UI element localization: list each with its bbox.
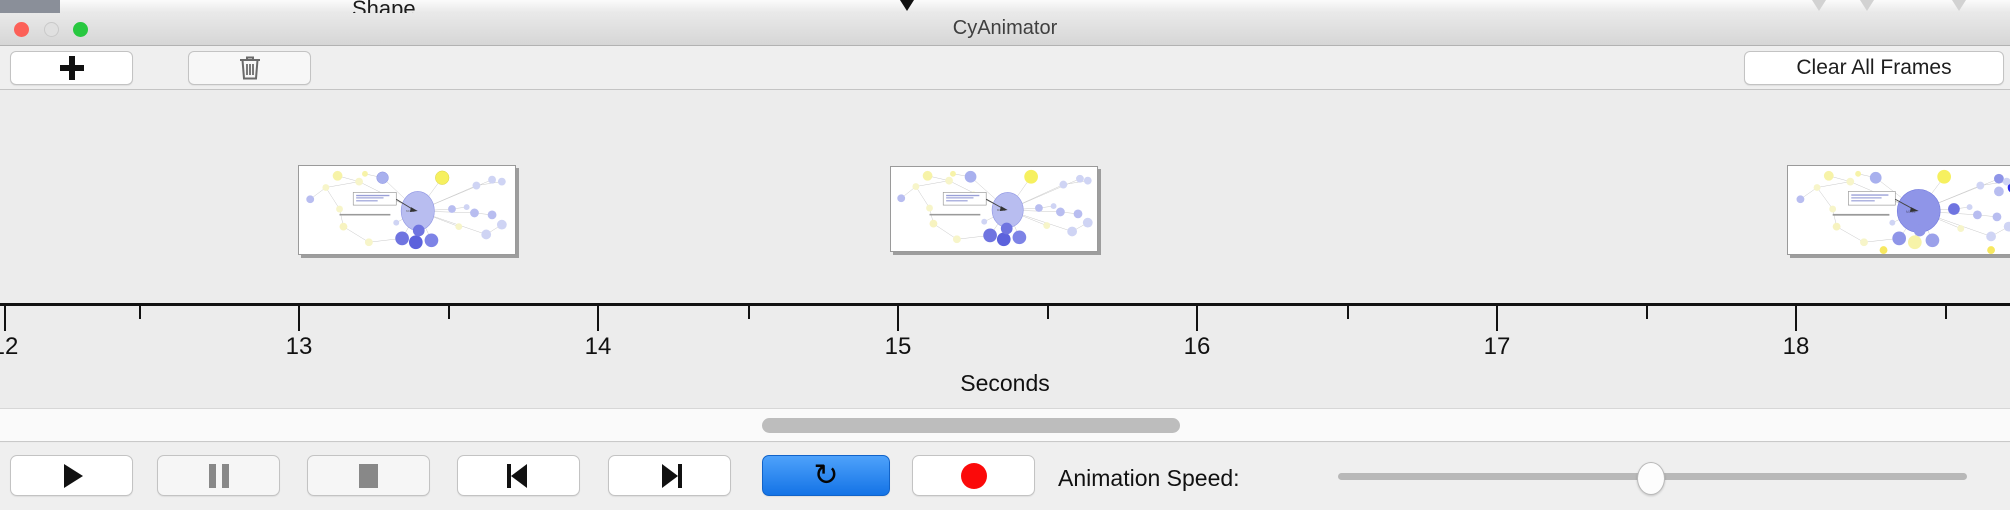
record-button[interactable] xyxy=(912,455,1035,496)
axis-tick-major xyxy=(897,306,899,331)
trash-icon xyxy=(237,54,263,82)
frames-strip: MCM1 xyxy=(0,90,2010,305)
background-window-strip: Shape xyxy=(0,0,2010,13)
axis-line xyxy=(0,303,2010,306)
skip-to-start-button[interactable] xyxy=(457,455,580,496)
play-icon xyxy=(64,464,83,488)
pause-icon xyxy=(209,464,229,488)
plus-icon xyxy=(58,54,86,82)
background-window-label: Shape xyxy=(352,0,416,13)
network-thumbnail-graphic: MCM1 xyxy=(891,167,1097,251)
playback-controls-bar: ↻ Animation Speed: xyxy=(0,443,2010,510)
network-thumbnail-graphic: MCM1 xyxy=(1788,166,2010,254)
axis-tick-label: 16 xyxy=(1184,333,1211,361)
axis-tick-label: 12 xyxy=(0,333,18,361)
timeline-scrollbar[interactable] xyxy=(0,408,2010,442)
axis-tick-label: 14 xyxy=(585,333,612,361)
play-button[interactable] xyxy=(10,455,133,496)
background-seg xyxy=(60,0,141,13)
background-seg xyxy=(185,0,244,13)
axis-tick-label: 18 xyxy=(1783,333,1810,361)
clear-all-frames-button[interactable]: Clear All Frames xyxy=(1744,51,2004,85)
axis-title: Seconds xyxy=(0,370,2010,397)
scrollbar-thumb[interactable] xyxy=(762,418,1180,433)
axis-tick-minor xyxy=(1347,306,1349,319)
background-caret-icon xyxy=(1812,0,1826,11)
axis-tick-major xyxy=(298,306,300,331)
axis-tick-major xyxy=(1196,306,1198,331)
delete-frame-button[interactable] xyxy=(188,51,311,85)
background-seg xyxy=(243,0,304,13)
title-bar: CyAnimator xyxy=(0,13,2010,46)
axis-tick-minor xyxy=(1047,306,1049,319)
background-caret-icon xyxy=(1952,0,1966,11)
pause-button[interactable] xyxy=(157,455,280,496)
background-seg xyxy=(953,0,2010,13)
axis-tick-minor xyxy=(139,306,141,319)
skip-back-icon xyxy=(506,464,532,488)
add-frame-button[interactable] xyxy=(10,51,133,85)
loop-icon: ↻ xyxy=(813,461,838,491)
frame-thumbnail[interactable]: MCM1 xyxy=(1787,165,2010,255)
timeline-panel[interactable]: MCM1 xyxy=(0,90,2010,408)
stop-button[interactable] xyxy=(307,455,430,496)
axis-tick-major xyxy=(4,306,6,331)
background-caret-icon xyxy=(1860,0,1874,11)
axis-tick-minor xyxy=(1646,306,1648,319)
frame-thumbnail[interactable]: MCM1 xyxy=(890,166,1098,252)
axis-tick-major xyxy=(1795,306,1797,331)
background-seg xyxy=(140,0,186,13)
axis-tick-label: 17 xyxy=(1484,333,1511,361)
axis-tick-major xyxy=(597,306,599,331)
cyanimator-window: Shape CyAnimator Clear All Frames xyxy=(0,0,2010,510)
skip-to-end-button[interactable] xyxy=(608,455,731,496)
window-title: CyAnimator xyxy=(0,17,2010,40)
background-caret-icon xyxy=(900,0,914,11)
toolbar: Clear All Frames xyxy=(0,46,2010,90)
axis-tick-minor xyxy=(1945,306,1947,319)
frame-thumbnail[interactable]: MCM1 xyxy=(298,165,516,255)
animation-speed-slider-knob[interactable] xyxy=(1637,462,1665,495)
axis-tick-label: 13 xyxy=(286,333,313,361)
axis-tick-minor xyxy=(448,306,450,319)
axis-tick-minor xyxy=(748,306,750,319)
animation-speed-label: Animation Speed: xyxy=(1058,465,1240,492)
stop-icon xyxy=(359,464,378,488)
loop-button[interactable]: ↻ xyxy=(762,455,890,496)
network-thumbnail-graphic: MCM1 xyxy=(299,166,515,254)
axis-tick-major xyxy=(1496,306,1498,331)
background-seg xyxy=(363,0,894,13)
background-window-sidebar xyxy=(0,0,60,13)
record-icon xyxy=(961,463,987,489)
timeline-axis: 12 13 14 15 16 17 18 Seconds xyxy=(0,303,2010,408)
axis-tick-label: 15 xyxy=(885,333,912,361)
skip-forward-icon xyxy=(657,464,683,488)
